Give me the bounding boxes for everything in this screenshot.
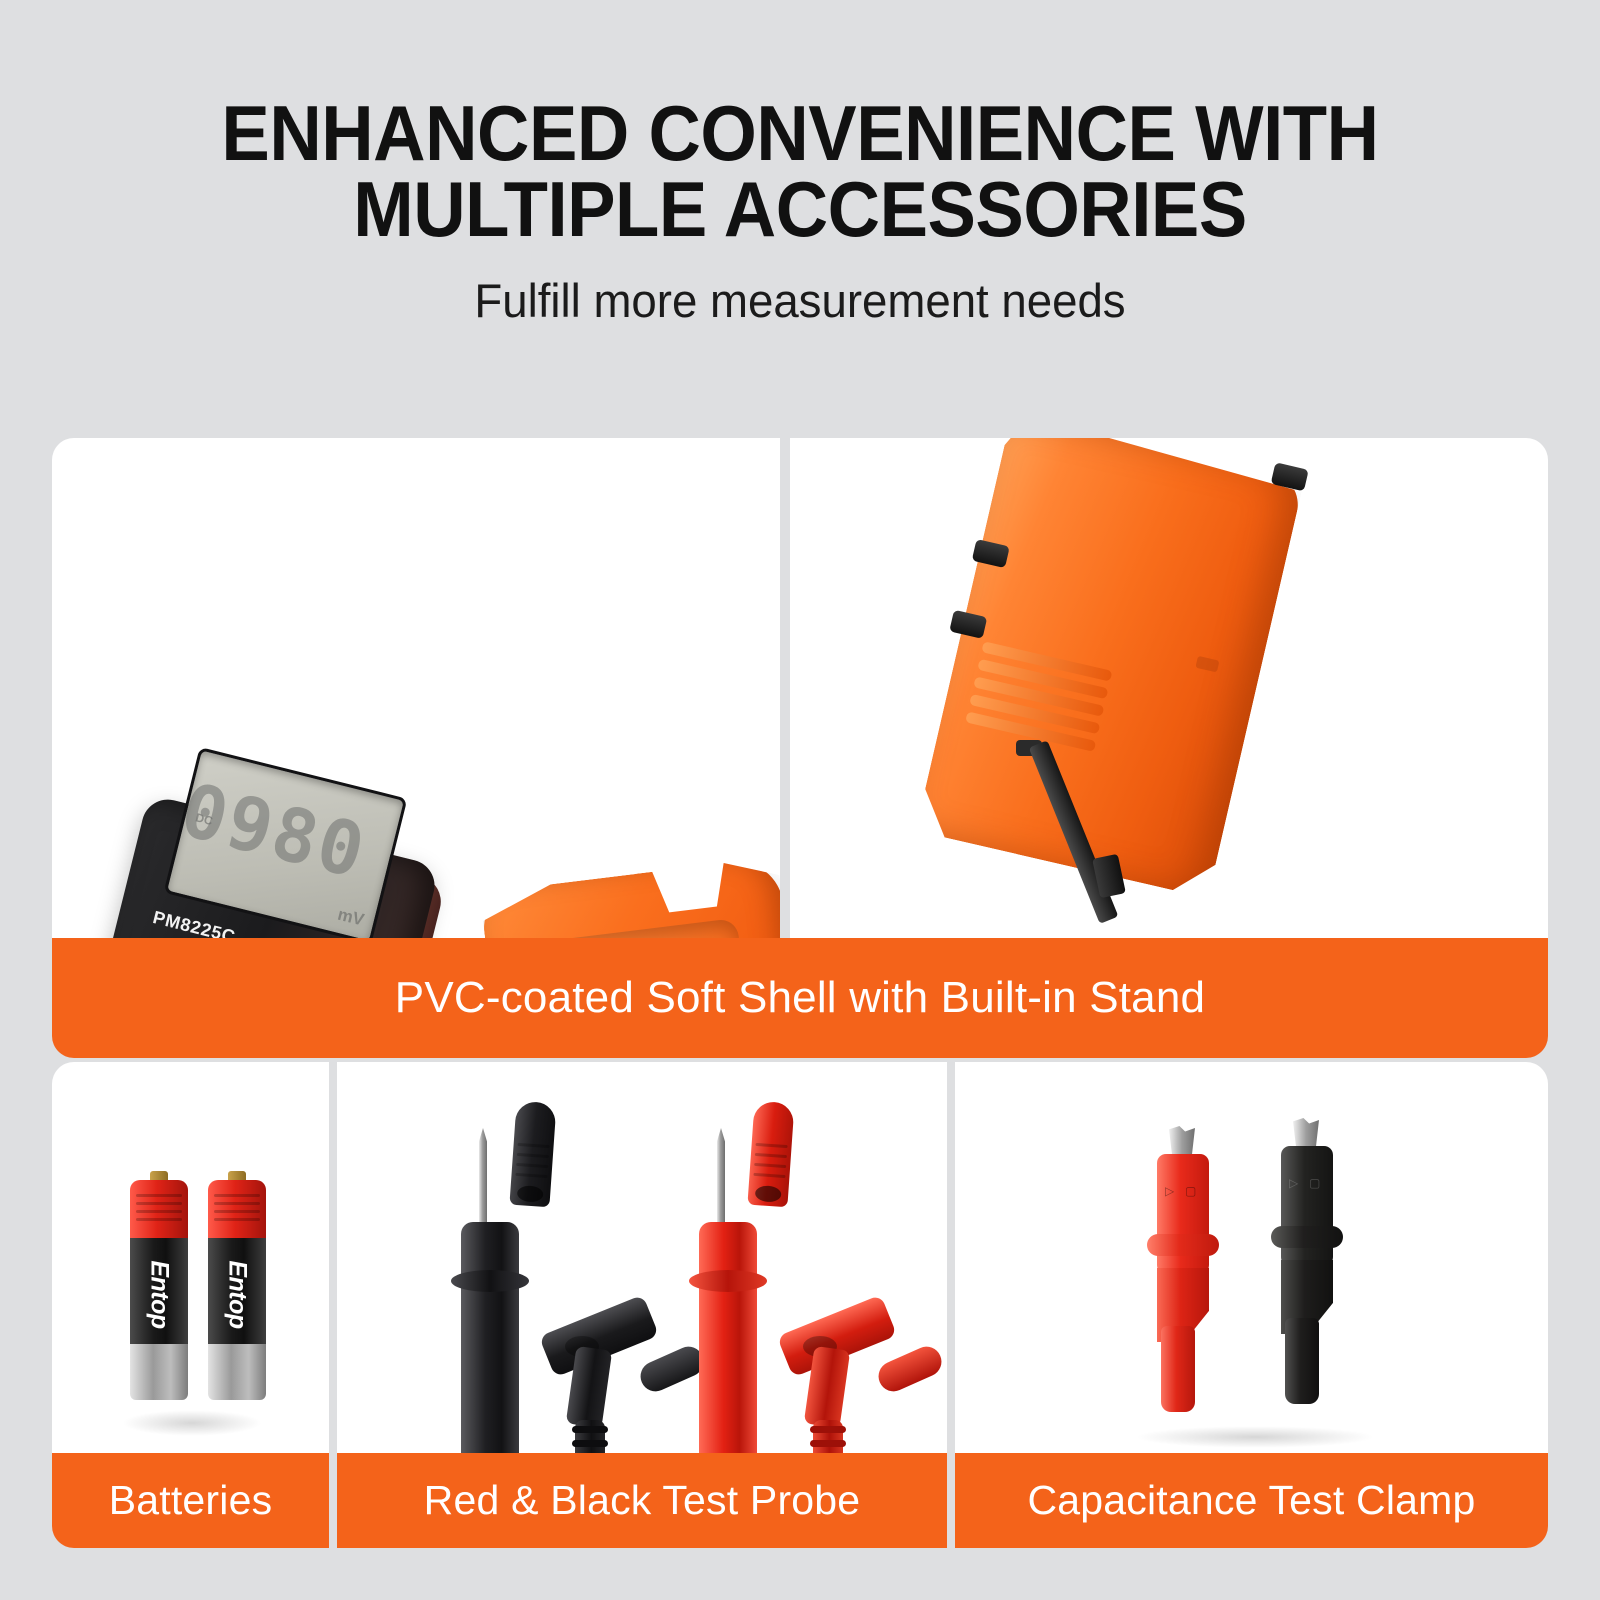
battery-right-cap xyxy=(208,1180,266,1242)
headline-line-2: MULTIPLE ACCESSORIES xyxy=(56,172,1544,248)
batteries-photo: Entop Entop xyxy=(52,1062,329,1453)
black-clamp-triangle-icon: ▷ xyxy=(1289,1176,1298,1190)
battery-shadow xyxy=(122,1410,262,1436)
battery-left: Entop xyxy=(130,1180,188,1400)
lcd-unit: mV xyxy=(336,905,367,931)
product-feature-page: ENHANCED CONVENIENCE WITH MULTIPLE ACCES… xyxy=(0,0,1600,1600)
red-clamp-grip-ring xyxy=(1147,1234,1219,1256)
battery-left-cap xyxy=(130,1180,188,1242)
battery-left-base xyxy=(130,1344,188,1400)
red-clamp-insulation-icon: ▢ xyxy=(1185,1184,1196,1198)
capacitance-clamp-black: ▷ ▢ MAX 10A xyxy=(1275,1142,1339,1402)
multimeter-model-label: PM8225C xyxy=(151,907,238,938)
soft-shell-holster xyxy=(479,856,780,938)
page-subtitle: Fulfill more measurement needs xyxy=(24,273,1576,328)
lcd-value: 0980 xyxy=(174,773,373,890)
capacitance-clamp-red: ▷ ▢ MAX 10A xyxy=(1151,1150,1215,1410)
black-clamp-grip-ring xyxy=(1271,1226,1343,1248)
battery-left-brand: Entop xyxy=(145,1260,174,1328)
black-clamp-head xyxy=(1281,1146,1333,1266)
capacitance-clamps-photo: ▷ ▢ MAX 10A ▷ ▢ MAX 10A xyxy=(955,1062,1548,1453)
black-probe-cap xyxy=(509,1101,556,1208)
battery-right: Entop xyxy=(208,1180,266,1400)
battery-right-base xyxy=(208,1344,266,1400)
multimeter-body: DC 0980 mV PM8225C DIGITAL MULTIMETER SE… xyxy=(52,794,440,938)
test-probes-caption: Red & Black Test Probe xyxy=(337,1453,947,1548)
red-probe-tip xyxy=(717,1128,725,1224)
header: ENHANCED CONVENIENCE WITH MULTIPLE ACCES… xyxy=(0,96,1600,328)
shell-side-view-photo xyxy=(790,438,1548,938)
shell-side-surface xyxy=(915,438,1304,898)
soft-shell-caption: PVC-coated Soft Shell with Built-in Stan… xyxy=(52,938,1548,1058)
black-probe-body xyxy=(461,1222,519,1453)
capacitance-clamps-caption: Capacitance Test Clamp xyxy=(955,1453,1548,1548)
batteries-caption: Batteries xyxy=(52,1453,329,1548)
red-probe-body xyxy=(699,1222,757,1453)
red-clamp-head xyxy=(1157,1154,1209,1274)
clamp-shadow xyxy=(1135,1426,1375,1448)
red-probe-collar xyxy=(689,1270,767,1292)
black-probe-tip xyxy=(479,1128,487,1224)
battery-right-brand: Entop xyxy=(223,1260,252,1328)
red-clamp-triangle-icon: ▷ xyxy=(1165,1184,1174,1198)
red-probe-cap xyxy=(747,1101,794,1208)
shell-side-body xyxy=(915,438,1304,898)
lcd-display: DC 0980 mV xyxy=(164,747,408,938)
black-clamp-insulation-icon: ▢ xyxy=(1309,1176,1320,1190)
black-cable-strain-relief xyxy=(575,1420,605,1453)
black-clamp-handle[interactable] xyxy=(1285,1318,1319,1404)
black-probe-sleeve xyxy=(636,1342,708,1396)
headline-line-1: ENHANCED CONVENIENCE WITH xyxy=(221,89,1378,177)
red-cable-strain-relief xyxy=(813,1420,843,1453)
test-probes-photo xyxy=(337,1062,947,1453)
red-clamp-handle[interactable] xyxy=(1161,1326,1195,1412)
page-title: ENHANCED CONVENIENCE WITH MULTIPLE ACCES… xyxy=(56,96,1544,247)
black-probe-collar xyxy=(451,1270,529,1292)
red-probe-sleeve xyxy=(874,1342,946,1396)
multimeter-with-shell-photo: DC 0980 mV PM8225C DIGITAL MULTIMETER SE… xyxy=(52,438,780,938)
multimeter-device: DC 0980 mV PM8225C DIGITAL MULTIMETER SE… xyxy=(52,794,469,938)
